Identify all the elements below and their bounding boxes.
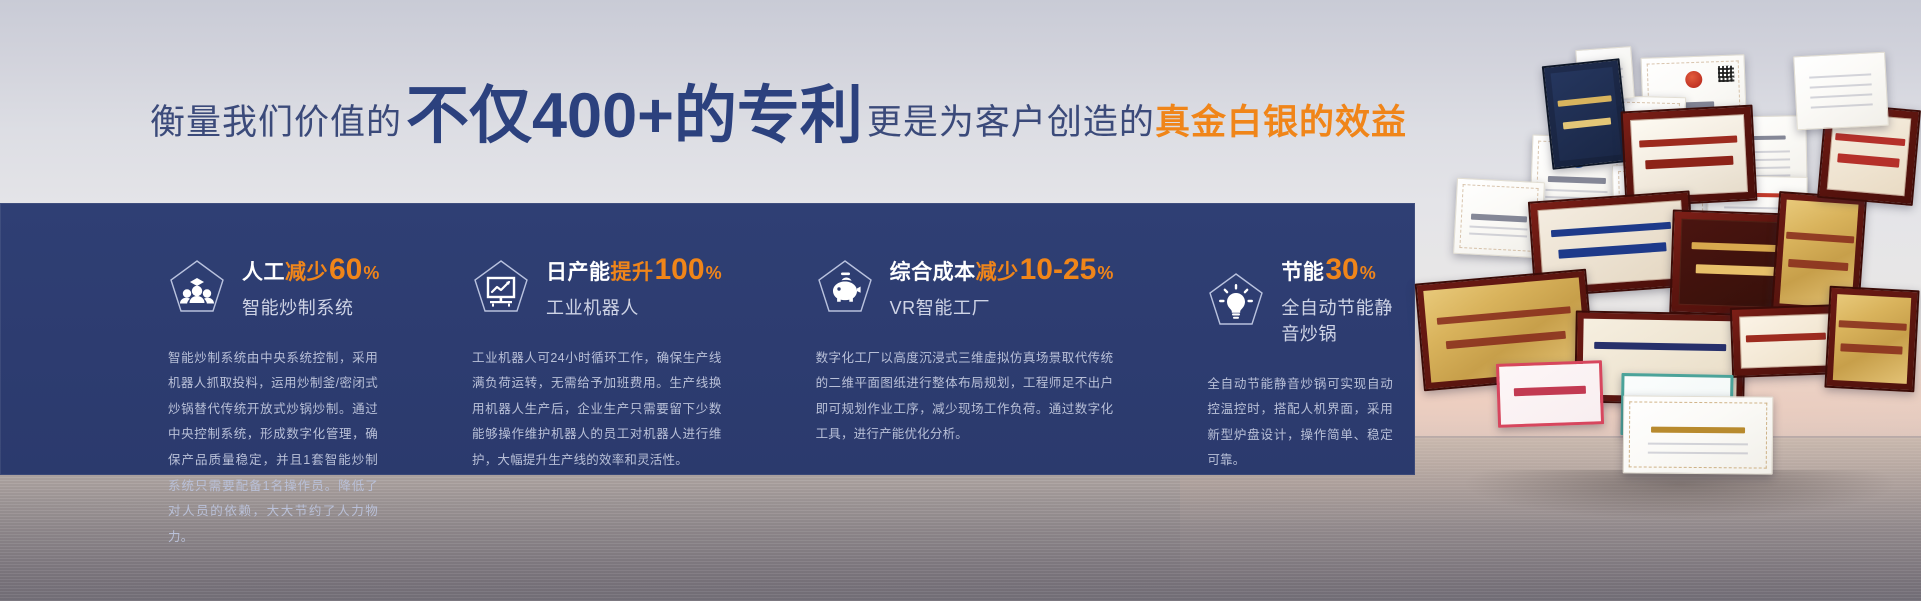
feature-description: 工业机器人可24小时循环工作，确保生产线满负荷运转，无需给予加班费用。生产线换用… [472, 346, 722, 474]
feature-description: 数字化工厂以高度沉浸式三维虚拟仿真场景取代传统的二维平面图纸进行整体布局规划，工… [816, 346, 1114, 449]
headline: 衡量我们价值的 不仅400+的专利 更是为客户创造的 真金白银的效益 [150, 82, 1400, 146]
piggy-bank-icon [816, 258, 874, 316]
feature-text: 节能 30 % 全自动节能静音炒锅 [1281, 254, 1393, 346]
kpi-subtitle: 智能炒制系统 [242, 294, 379, 320]
kpi-number: 100 [655, 254, 705, 286]
kpi-unit: % [706, 264, 722, 283]
feature-description: 全自动节能静音炒锅可实现自动控温控时，搭配人机界面，采用新型炉盘设计，操作简单、… [1207, 372, 1393, 475]
kpi-subtitle: VR智能工厂 [890, 294, 1114, 320]
kpi-label: 综合成本 [890, 262, 976, 284]
feature-header: 节能 30 % 全自动节能静音炒锅 [1207, 254, 1393, 346]
feature-column-cost: 综合成本 减少 10-25 % VR智能工厂 数字化工厂以高度沉浸式三维虚拟仿真… [744, 203, 1136, 475]
feature-column-energy: 节能 30 % 全自动节能静音炒锅 全自动节能静音炒锅可实现自动控温控时，搭配人… [1135, 203, 1415, 475]
feature-kpi: 日产能 提升 100 % [546, 254, 722, 286]
chart-board-icon [472, 258, 530, 316]
award-plaque [1623, 395, 1774, 474]
kpi-number: 30 [1325, 254, 1358, 286]
team-people-icon [168, 258, 226, 316]
features-panel: 人工 减少 60 % 智能炒制系统 智能炒制系统由中央系统控制，采用机器人抓取投… [0, 203, 1415, 475]
feature-header: 人工 减少 60 % 智能炒制系统 [168, 254, 378, 320]
kpi-subtitle: 工业机器人 [546, 294, 722, 320]
kpi-number: 10-25 [1020, 254, 1097, 286]
feature-kpi: 综合成本 减少 10-25 % [890, 254, 1114, 286]
kpi-label: 人工 [242, 262, 285, 284]
kpi-verb: 提升 [611, 262, 654, 284]
features-columns: 人工 减少 60 % 智能炒制系统 智能炒制系统由中央系统控制，采用机器人抓取投… [0, 203, 1415, 475]
kpi-subtitle: 全自动节能静音炒锅 [1281, 294, 1393, 346]
feature-column-labor: 人工 减少 60 % 智能炒制系统 智能炒制系统由中央系统控制，采用机器人抓取投… [0, 203, 400, 475]
feature-kpi: 人工 减少 60 % [242, 254, 379, 286]
feature-header: 综合成本 减少 10-25 % VR智能工厂 [816, 254, 1114, 320]
feature-text: 综合成本 减少 10-25 % VR智能工厂 [890, 254, 1114, 320]
feature-kpi: 节能 30 % [1281, 254, 1393, 286]
light-bulb-icon [1207, 271, 1265, 329]
kpi-verb: 减少 [976, 262, 1019, 284]
award-plaque [1496, 360, 1604, 428]
award-wall [1435, 44, 1921, 492]
feature-header: 日产能 提升 100 % 工业机器人 [472, 254, 722, 320]
headline-emphasis: 不仅400+的专利 [406, 85, 863, 148]
award-plaque [1542, 58, 1630, 170]
award-plaque [1824, 286, 1919, 393]
promo-banner: 衡量我们价值的 不仅400+的专利 更是为客户创造的 真金白银的效益 [0, 0, 1921, 601]
kpi-unit: % [1097, 264, 1113, 283]
kpi-verb: 减少 [285, 262, 328, 284]
headline-prefix: 衡量我们价值的 [150, 94, 402, 145]
kpi-label: 日产能 [546, 262, 611, 284]
headline-middle: 更是为客户创造的 [867, 94, 1155, 145]
feature-text: 人工 减少 60 % 智能炒制系统 [242, 254, 379, 320]
kpi-number: 60 [329, 254, 362, 286]
kpi-label: 节能 [1281, 262, 1324, 284]
kpi-unit: % [1360, 264, 1376, 283]
certificate-item [1793, 52, 1889, 131]
feature-text: 日产能 提升 100 % 工业机器人 [546, 254, 722, 320]
feature-description: 智能炒制系统由中央系统控制，采用机器人抓取投料，运用炒制釜/密闭式炒锅替代传统开… [168, 346, 378, 551]
headline-highlight: 真金白银的效益 [1155, 94, 1407, 145]
feature-column-capacity: 日产能 提升 100 % 工业机器人 工业机器人可24小时循环工作，确保生产线满… [400, 203, 744, 475]
kpi-unit: % [363, 264, 379, 283]
